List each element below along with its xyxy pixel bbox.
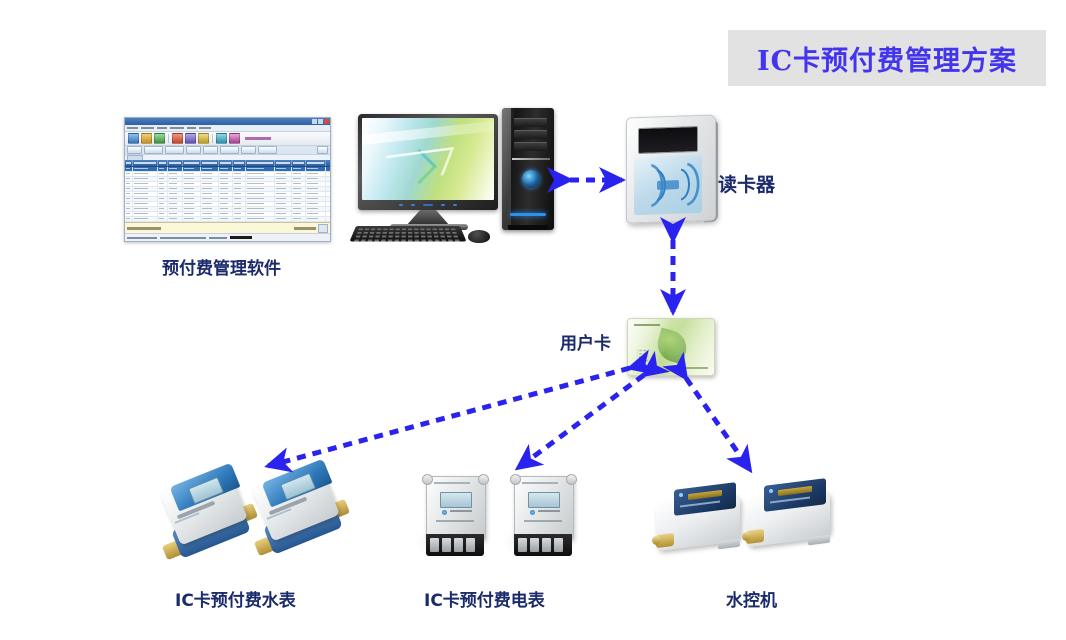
table-cell: [183, 207, 201, 211]
table-cell: [246, 187, 275, 191]
arrow-card-to-water-meter: [268, 368, 630, 466]
grid-body[interactable]: [125, 167, 330, 222]
table-cell: [233, 197, 246, 201]
sync-button[interactable]: [241, 146, 256, 154]
menu-item[interactable]: [187, 127, 196, 129]
table-cell: [233, 217, 246, 221]
close-icon[interactable]: [324, 119, 329, 124]
table-cell: [233, 167, 246, 171]
reader-rfid-pad[interactable]: [634, 155, 702, 215]
table-cell: [275, 202, 292, 206]
table-cell: [158, 197, 168, 201]
grid-column-header[interactable]: [219, 160, 233, 166]
table-cell: [292, 172, 306, 176]
table-cell: [219, 167, 233, 171]
table-cell: [306, 212, 326, 216]
toolbar-hint-text: [245, 137, 271, 140]
meter-print: [524, 520, 562, 522]
table-cell: [292, 212, 306, 216]
user-icon[interactable]: [229, 133, 240, 144]
table-cell: [133, 167, 158, 171]
key-row: [358, 228, 457, 230]
title-text: IC卡预付费管理方案: [757, 39, 1017, 78]
table-cell: [306, 177, 326, 181]
filter-apply-button[interactable]: [318, 224, 328, 233]
table-cell: [133, 182, 158, 186]
meter-led-icon: [530, 510, 535, 515]
table-cell: [233, 207, 246, 211]
table-cell: [275, 192, 292, 196]
table-cell: [292, 192, 306, 196]
table-cell: [183, 197, 201, 201]
diagram-canvas: IC卡预付费管理方案: [0, 0, 1066, 640]
table-cell: [246, 167, 275, 171]
table-cell: [233, 182, 246, 186]
table-cell: [233, 202, 246, 206]
table-cell: [158, 217, 168, 221]
table-cell: [125, 167, 133, 171]
settings-button[interactable]: [220, 146, 239, 154]
table-cell: [158, 167, 168, 171]
keyboard[interactable]: [350, 226, 467, 241]
software-label: 预付费管理软件: [162, 254, 281, 279]
table-cell: [201, 212, 219, 216]
controller-mount: [808, 535, 830, 546]
meter-housing: [426, 476, 486, 540]
arrow-card-to-electric-meter: [518, 375, 644, 468]
desktop-computer: [352, 106, 564, 246]
menu-item[interactable]: [141, 127, 154, 129]
meter-print: [538, 510, 560, 512]
table-cell: [275, 167, 292, 171]
meter-lcd-icon: [528, 492, 560, 508]
grid-column-header[interactable]: [275, 160, 292, 166]
monitor-screen: [362, 118, 494, 200]
table-cell: [219, 192, 233, 196]
table-cell: [219, 212, 233, 216]
card-top-print: [634, 324, 660, 326]
tower-base: [508, 225, 548, 230]
table-cell: [125, 177, 133, 181]
grid-column-header[interactable]: [125, 160, 133, 166]
table-cell: [219, 207, 233, 211]
grid-column-header[interactable]: [183, 160, 201, 166]
table-cell: [168, 192, 183, 196]
window-titlebar: [125, 118, 330, 125]
table-cell: [183, 172, 201, 176]
monitor-button-icon[interactable]: [453, 204, 457, 206]
meter-print: [450, 510, 472, 512]
table-cell: [275, 207, 292, 211]
mount-hole-icon: [478, 474, 489, 485]
wallpaper-chevron-icon: [402, 149, 437, 184]
table-cell: [219, 197, 233, 201]
save-icon[interactable]: [154, 133, 165, 144]
table-cell: [168, 207, 183, 211]
table-cell: [246, 207, 275, 211]
status-path: [160, 237, 206, 239]
status-highlight: [230, 236, 252, 239]
table-cell: [275, 177, 292, 181]
meter-led-icon: [442, 510, 447, 515]
terminal-screw-icon: [530, 538, 539, 552]
table-cell: [133, 172, 158, 176]
meter-print: [436, 520, 474, 522]
drive-bay: [514, 142, 547, 151]
water-meter-label: IC卡预付费水表: [175, 586, 296, 611]
table-cell: [246, 217, 275, 221]
menu-item[interactable]: [199, 127, 211, 129]
table-cell: [219, 172, 233, 176]
table-cell: [183, 212, 201, 216]
status-text: [127, 237, 157, 239]
computer-tower: [502, 108, 554, 230]
table-cell: [292, 202, 306, 206]
table-cell: [201, 182, 219, 186]
key-row: [354, 239, 462, 241]
water-controller: [652, 482, 752, 562]
terminal-block: [514, 534, 572, 556]
toolbar-separator: [168, 134, 169, 143]
table-cell: [168, 167, 183, 171]
drive-bay: [514, 130, 547, 139]
water-controller: [742, 478, 842, 558]
menu-item[interactable]: [127, 127, 138, 129]
table-cell: [125, 197, 133, 201]
terminal-screw-icon: [454, 538, 463, 552]
table-cell: [201, 202, 219, 206]
table-cell: [168, 182, 183, 186]
table-cell: [292, 177, 306, 181]
user-card-label: 用户卡: [560, 329, 611, 354]
table-cell: [125, 212, 133, 216]
table-cell: [201, 187, 219, 191]
table-cell: [246, 172, 275, 176]
grid-column-header[interactable]: [133, 160, 158, 166]
terminal-screw-icon: [554, 538, 563, 552]
table-cell: [246, 177, 275, 181]
table-cell: [125, 202, 133, 206]
maximize-icon[interactable]: [318, 119, 323, 124]
grid-column-header[interactable]: [158, 160, 168, 166]
title-banner: IC卡预付费管理方案: [728, 30, 1046, 86]
table-cell: [306, 197, 326, 201]
table-cell: [133, 202, 158, 206]
card-read-icon[interactable]: [216, 133, 227, 144]
water-meter: [252, 466, 348, 566]
mount-hole-icon: [422, 474, 433, 485]
filter-button[interactable]: [127, 146, 142, 154]
key-row: [357, 232, 459, 234]
mount-hole-icon: [510, 474, 521, 485]
grid-column-header[interactable]: [306, 160, 326, 166]
tower-accent-stripe: [512, 158, 550, 160]
table-cell: [292, 187, 306, 191]
rfid-core-icon: [657, 180, 679, 190]
table-cell: [168, 187, 183, 191]
table-cell: [246, 182, 275, 186]
terminal-screw-icon: [542, 538, 551, 552]
table-cell: [158, 202, 168, 206]
grid-column-header[interactable]: [292, 160, 306, 166]
filter-bar[interactable]: [125, 222, 330, 233]
meter-print: [434, 482, 470, 484]
table-cell: [201, 197, 219, 201]
table-cell: [125, 192, 133, 196]
grid-column-header[interactable]: [246, 160, 275, 166]
recharge-button[interactable]: [165, 146, 184, 154]
card-bottom-print: [678, 367, 708, 369]
table-cell: [306, 202, 326, 206]
table-cell: [168, 197, 183, 201]
table-cell: [275, 212, 292, 216]
table-cell: [275, 172, 292, 176]
table-cell: [158, 177, 168, 181]
toolbar-separator: [212, 134, 213, 143]
power-button-icon[interactable]: [522, 170, 540, 188]
table-cell: [275, 197, 292, 201]
table-cell: [233, 177, 246, 181]
table-cell: [246, 212, 275, 216]
meter-housing: [514, 476, 574, 540]
controller-led-icon: [679, 493, 683, 497]
table-cell: [275, 217, 292, 221]
table-cell: [246, 202, 275, 206]
meter-print: [522, 482, 558, 484]
table-cell: [201, 192, 219, 196]
mount-hole-icon: [566, 474, 577, 485]
water-meter: [160, 470, 256, 570]
table-cell: [292, 197, 306, 201]
monitor-bezel-buttons[interactable]: [358, 200, 498, 210]
menu-item[interactable]: [170, 127, 184, 129]
table-cell: [233, 172, 246, 176]
table-cell: [133, 197, 158, 201]
table-cell: [168, 217, 183, 221]
table-cell: [292, 217, 306, 221]
table-cell: [306, 182, 326, 186]
table-cell: [219, 217, 233, 221]
table-cell: [125, 207, 133, 211]
water-controller-label: 水控机: [726, 586, 777, 611]
table-cell: [133, 192, 158, 196]
table-cell: [275, 182, 292, 186]
monitor-button-icon[interactable]: [411, 204, 415, 206]
table-cell: [133, 212, 158, 216]
table-cell: [292, 207, 306, 211]
status-bar: [125, 233, 330, 241]
table-cell: [201, 217, 219, 221]
table-cell: [233, 187, 246, 191]
table-cell: [125, 182, 133, 186]
table-cell: [183, 187, 201, 191]
filter-summary: [294, 227, 316, 230]
table-cell: [219, 177, 233, 181]
table-cell: [168, 177, 183, 181]
refund-button[interactable]: [186, 146, 201, 154]
monitor-power-icon[interactable]: [423, 204, 433, 206]
table-cell: [233, 192, 246, 196]
controller-brass-lip: [742, 532, 751, 541]
table-cell: [158, 207, 168, 211]
table-cell: [306, 187, 326, 191]
reader-display: [638, 126, 698, 154]
arrow-card-to-water-controller: [686, 378, 750, 470]
export-icon[interactable]: [198, 133, 209, 144]
meter-lcd-icon: [440, 492, 472, 508]
terminal-screw-icon: [430, 538, 439, 552]
controller-led-icon: [769, 489, 773, 493]
table-cell: [306, 172, 326, 176]
table-cell: [158, 212, 168, 216]
action-button-row[interactable]: [125, 146, 330, 155]
electric-meter-label: IC卡预付费电表: [424, 586, 545, 611]
more-button[interactable]: [317, 146, 328, 154]
monitor-button-icon[interactable]: [399, 204, 403, 206]
controller-mount: [718, 539, 740, 550]
table-cell: [133, 187, 158, 191]
user-card: 用: [627, 318, 715, 376]
data-grid[interactable]: [125, 160, 330, 222]
controller-brass-lip: [652, 536, 661, 545]
table-cell: [219, 202, 233, 206]
grid-column-header[interactable]: [168, 160, 183, 166]
table-cell: [183, 177, 201, 181]
mouse[interactable]: [468, 230, 490, 243]
grid-header-row: [125, 160, 330, 167]
grid-column-header[interactable]: [201, 160, 219, 166]
monitor: [358, 114, 498, 210]
print-icon[interactable]: [185, 133, 196, 144]
table-cell: [125, 217, 133, 221]
table-cell: [275, 187, 292, 191]
drive-bay: [514, 118, 547, 127]
grid-column-header[interactable]: [233, 160, 246, 166]
prepaid-software-window[interactable]: [124, 117, 331, 242]
table-cell: [219, 187, 233, 191]
open-icon[interactable]: [141, 133, 152, 144]
monitor-button-icon[interactable]: [441, 204, 445, 206]
terminal-block: [426, 534, 484, 556]
table-cell: [158, 192, 168, 196]
table-cell: [125, 172, 133, 176]
report-button[interactable]: [203, 146, 218, 154]
new-record-icon[interactable]: [128, 133, 139, 144]
help-button[interactable]: [258, 146, 277, 154]
table-cell: [158, 172, 168, 176]
table-cell: [292, 182, 306, 186]
table-cell: [158, 187, 168, 191]
table-cell: [246, 192, 275, 196]
card-reader-label: 读卡器: [718, 170, 775, 197]
key-row: [356, 236, 461, 238]
icon-toolbar[interactable]: [125, 132, 330, 146]
table-cell: [306, 167, 326, 171]
table-cell: [306, 192, 326, 196]
table-cell: [219, 182, 233, 186]
table-cell: [183, 182, 201, 186]
table-cell: [168, 172, 183, 176]
table-cell: [201, 177, 219, 181]
table-cell: [183, 217, 201, 221]
table-cell: [233, 212, 246, 216]
terminal-screw-icon: [518, 538, 527, 552]
table-cell: [168, 212, 183, 216]
delete-icon[interactable]: [172, 133, 183, 144]
menu-bar[interactable]: [125, 125, 330, 132]
tower-led-glow: [510, 213, 546, 216]
table-cell: [183, 202, 201, 206]
table-cell: [133, 217, 158, 221]
table-cell: [183, 167, 201, 171]
terminal-screw-icon: [442, 538, 451, 552]
menu-item[interactable]: [157, 127, 167, 129]
electric-meter: [508, 472, 582, 568]
table-cell: [183, 192, 201, 196]
filter-text: [127, 227, 161, 230]
window-controls[interactable]: [312, 119, 329, 124]
table-cell: [133, 207, 158, 211]
table-cell: [306, 207, 326, 211]
table-cell: [292, 167, 306, 171]
terminal-screw-icon: [466, 538, 475, 552]
electric-meter: [420, 472, 494, 568]
table-cell: [201, 167, 219, 171]
table-cell: [125, 187, 133, 191]
table-cell: [306, 217, 326, 221]
status-count: [209, 237, 227, 239]
minimize-icon[interactable]: [312, 119, 317, 124]
table-cell: [158, 182, 168, 186]
query-button[interactable]: [144, 146, 163, 154]
table-cell: [168, 202, 183, 206]
table-cell: [246, 197, 275, 201]
table-cell: [133, 177, 158, 181]
table-cell: [201, 172, 219, 176]
card-reader: [626, 116, 722, 230]
card-main-text: 用: [636, 344, 649, 363]
table-cell: [201, 207, 219, 211]
